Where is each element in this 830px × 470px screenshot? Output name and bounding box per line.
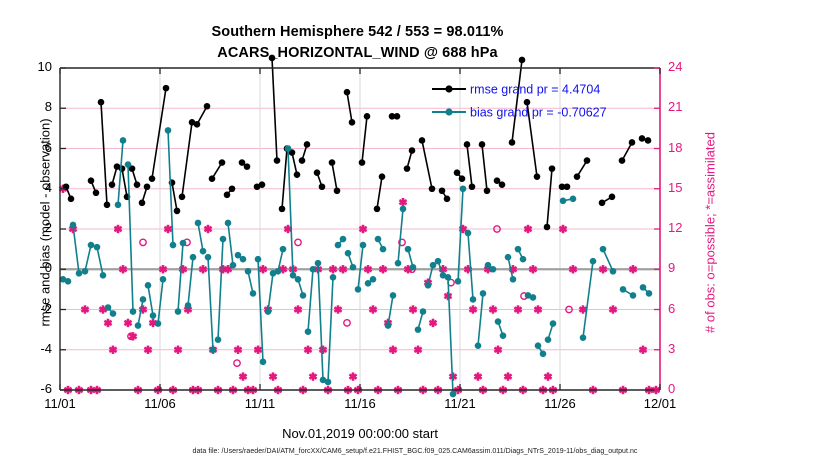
- bias-data-point: [94, 244, 101, 251]
- bias-data-point: [195, 220, 202, 227]
- bias-data-point: [145, 282, 152, 289]
- rmse-data-point: [104, 202, 111, 209]
- rmse-data-point: [509, 139, 516, 146]
- rmse-data-point: [464, 141, 471, 148]
- rmse-data-point: [645, 137, 652, 144]
- obs-assimilated-marker: [474, 372, 481, 380]
- rmse-line-segment: [122, 169, 127, 197]
- obs-possible-marker: [344, 320, 350, 326]
- rmse-data-point: [219, 159, 226, 166]
- rmse-line-segment: [172, 183, 177, 211]
- rmse-data-point: [314, 169, 321, 176]
- bias-data-point: [540, 350, 547, 357]
- rmse-data-point: [499, 181, 506, 188]
- bias-data-point: [240, 256, 247, 263]
- bias-line-segment: [85, 245, 91, 271]
- obs-possible-marker: [140, 239, 146, 245]
- bias-line-segment: [188, 257, 193, 305]
- bias-line-segment: [198, 223, 203, 251]
- bias-line-segment: [248, 271, 253, 293]
- rmse-line-segment: [512, 60, 522, 143]
- rmse-data-point: [134, 181, 141, 188]
- bias-data-point: [500, 332, 507, 339]
- bias-data-point: [250, 290, 257, 297]
- rmse-data-point: [344, 89, 351, 96]
- bias-data-point: [590, 258, 597, 265]
- bias-data-point: [380, 246, 387, 253]
- rmse-data-point: [179, 194, 186, 201]
- rmse-data-point: [244, 163, 251, 170]
- bias-data-point: [165, 127, 172, 134]
- y-tick-label-right: 18: [668, 140, 708, 155]
- obs-assimilated-marker: [629, 265, 636, 273]
- rmse-data-point: [599, 200, 606, 207]
- x-tick-label: 11/11: [225, 396, 295, 411]
- obs-assimilated-marker: [81, 305, 88, 313]
- bias-data-point: [130, 308, 137, 315]
- bias-data-point: [445, 274, 452, 281]
- bias-data-point: [315, 260, 322, 267]
- bias-data-point: [105, 304, 112, 311]
- bias-data-point: [570, 196, 577, 203]
- obs-assimilated-marker: [319, 346, 326, 354]
- bias-data-point: [515, 246, 522, 253]
- rmse-data-point: [144, 183, 151, 190]
- bias-data-point: [385, 322, 392, 329]
- y-tick-label-right: 15: [668, 180, 708, 195]
- bias-data-point: [345, 250, 352, 257]
- bias-data-point: [325, 379, 332, 386]
- obs-assimilated-marker: [104, 319, 111, 327]
- rmse-data-point: [374, 206, 381, 213]
- rmse-data-point: [269, 55, 276, 62]
- x-tick-label: 11/16: [325, 396, 395, 411]
- bias-data-point: [600, 246, 607, 253]
- y-tick-label-left: 6: [6, 140, 52, 155]
- bias-data-point: [155, 320, 162, 327]
- bias-data-point: [135, 322, 142, 329]
- rmse-data-point: [484, 187, 491, 194]
- bias-data-point: [110, 310, 117, 317]
- y-tick-label-left: 2: [6, 220, 52, 235]
- rmse-data-point: [519, 57, 526, 64]
- rmse-data-point: [319, 183, 326, 190]
- bias-data-point: [280, 246, 287, 253]
- bias-data-point: [205, 254, 212, 261]
- bias-data-point: [82, 268, 89, 275]
- bias-data-point: [230, 262, 237, 269]
- obs-assimilated-marker: [409, 305, 416, 313]
- bias-data-point: [460, 185, 467, 192]
- bias-line-segment: [288, 149, 293, 276]
- rmse-data-point: [194, 121, 201, 128]
- bias-data-point: [70, 222, 77, 229]
- rmse-data-point: [639, 135, 646, 142]
- rmse-data-point: [429, 185, 436, 192]
- obs-assimilated-marker: [109, 346, 116, 354]
- bias-data-point: [495, 318, 502, 325]
- bias-data-point: [545, 336, 552, 343]
- obs-assimilated-marker: [159, 265, 166, 273]
- obs-assimilated-marker: [559, 225, 566, 233]
- bias-data-point: [355, 286, 362, 293]
- obs-assimilated-marker: [364, 265, 371, 273]
- bias-data-point: [420, 308, 427, 315]
- bias-data-point: [370, 276, 377, 283]
- bias-data-point: [560, 198, 567, 205]
- obs-assimilated-marker: [304, 346, 311, 354]
- rmse-data-point: [574, 173, 581, 180]
- bias-line-segment: [268, 273, 273, 311]
- bias-data-point: [65, 278, 72, 285]
- rmse-data-point: [299, 157, 306, 164]
- bias-data-point: [470, 296, 477, 303]
- obs-assimilated-marker: [334, 305, 341, 313]
- bias-data-point: [305, 328, 312, 335]
- bias-data-point: [88, 242, 95, 249]
- bias-data-point: [630, 292, 637, 299]
- bias-data-point: [115, 202, 122, 209]
- rmse-line-segment: [467, 144, 472, 186]
- x-tick-label: 12/01: [625, 396, 695, 411]
- obs-assimilated-marker: [534, 305, 541, 313]
- bias-data-point: [510, 276, 517, 283]
- rmse-data-point: [229, 185, 236, 192]
- bias-data-point: [610, 268, 617, 275]
- y-tick-label-right: 6: [668, 301, 708, 316]
- bias-data-point: [285, 145, 292, 152]
- bias-data-point: [170, 242, 177, 249]
- obs-assimilated-marker: [124, 319, 131, 327]
- bias-data-point: [490, 266, 497, 273]
- obs-assimilated-marker: [514, 305, 521, 313]
- x-tick-label: 11/26: [525, 396, 595, 411]
- obs-assimilated-marker: [294, 305, 301, 313]
- rmse-line-segment: [347, 92, 352, 122]
- bias-data-point: [405, 246, 412, 253]
- bias-data-point: [215, 336, 222, 343]
- bias-data-point: [530, 294, 537, 301]
- obs-assimilated-marker: [234, 346, 241, 354]
- obs-assimilated-marker: [144, 346, 151, 354]
- bias-data-point: [465, 230, 472, 237]
- obs-assimilated-marker: [309, 372, 316, 380]
- y-tick-label-right: 21: [668, 99, 708, 114]
- y-tick-label-left: -6: [6, 381, 52, 396]
- x-tick-label: 11/21: [425, 396, 495, 411]
- obs-assimilated-marker: [239, 372, 246, 380]
- bias-data-point: [350, 264, 357, 271]
- bias-data-point: [375, 236, 382, 243]
- obs-assimilated-marker: [119, 265, 126, 273]
- rmse-data-point: [163, 85, 170, 92]
- bias-line-segment: [128, 165, 133, 312]
- bias-line-segment: [583, 261, 593, 337]
- rmse-data-point: [294, 171, 301, 178]
- bias-data-point: [620, 286, 627, 293]
- bias-data-point: [76, 270, 83, 277]
- obs-assimilated-marker: [259, 265, 266, 273]
- bias-data-point: [190, 254, 197, 261]
- bias-data-point: [175, 308, 182, 315]
- rmse-data-point: [93, 189, 100, 196]
- obs-assimilated-marker: [379, 265, 386, 273]
- bias-data-point: [335, 242, 342, 249]
- rmse-data-point: [329, 159, 336, 166]
- obs-assimilated-marker: [609, 305, 616, 313]
- obs-assimilated-marker: [359, 225, 366, 233]
- rmse-data-point: [359, 159, 366, 166]
- bias-data-point: [275, 268, 282, 275]
- rmse-line-segment: [332, 163, 337, 191]
- bias-data-point: [150, 312, 157, 319]
- bias-data-point: [340, 236, 347, 243]
- obs-assimilated-marker: [174, 346, 181, 354]
- y-tick-label-left: 8: [6, 99, 52, 114]
- rmse-data-point: [88, 177, 95, 184]
- rmse-data-point: [469, 183, 476, 190]
- obs-possible-marker: [234, 360, 240, 366]
- bias-data-point: [125, 161, 132, 168]
- bias-legend-marker: [445, 108, 452, 115]
- rmse-data-point: [259, 181, 266, 188]
- bias-data-point: [310, 266, 317, 273]
- rmse-data-point: [364, 113, 371, 120]
- y-tick-label-left: 10: [6, 59, 52, 74]
- bias-data-point: [220, 236, 227, 243]
- bias-data-point: [255, 256, 262, 263]
- y-tick-label-left: -4: [6, 341, 52, 356]
- y-tick-label-right: 0: [668, 381, 708, 396]
- bias-data-point: [140, 296, 147, 303]
- rmse-data-point: [209, 175, 216, 182]
- bias-line-segment: [218, 239, 223, 340]
- bias-data-point: [640, 284, 647, 291]
- rmse-data-point: [349, 119, 356, 126]
- rmse-data-point: [479, 141, 486, 148]
- obs-assimilated-marker: [494, 346, 501, 354]
- rmse-data-point: [224, 191, 231, 198]
- obs-assimilated-marker: [544, 372, 551, 380]
- bias-data-point: [455, 278, 462, 285]
- bias-data-point: [225, 220, 232, 227]
- bias-data-point: [300, 292, 307, 299]
- bias-data-point: [260, 359, 267, 366]
- rmse-line-segment: [377, 177, 382, 209]
- rmse-data-point: [334, 187, 341, 194]
- bias-data-point: [520, 256, 527, 263]
- bias-data-point: [505, 254, 512, 261]
- obs-assimilated-marker: [489, 305, 496, 313]
- rmse-data-point: [454, 169, 461, 176]
- obs-assimilated-marker: [329, 265, 336, 273]
- bias-data-point: [245, 268, 252, 275]
- rmse-data-point: [609, 194, 616, 201]
- obs-assimilated-marker: [339, 265, 346, 273]
- bias-line-segment: [308, 269, 313, 331]
- rmse-data-point: [274, 157, 281, 164]
- bias-data-point: [360, 242, 367, 249]
- bias-line-segment: [178, 243, 183, 311]
- rmse-data-point: [444, 196, 451, 203]
- x-tick-label: 11/06: [125, 396, 195, 411]
- bias-data-point: [200, 248, 207, 255]
- bias-line-segment: [318, 263, 323, 380]
- obs-assimilated-marker: [114, 225, 121, 233]
- rmse-line-segment: [482, 144, 487, 190]
- bias-data-point: [580, 334, 587, 341]
- rmse-line-segment: [282, 149, 287, 209]
- rmse-data-point: [564, 183, 571, 190]
- bias-line-segment: [73, 225, 79, 273]
- obs-assimilated-marker: [599, 265, 606, 273]
- x-tick-label: 11/01: [25, 396, 95, 411]
- bias-data-point: [185, 302, 192, 309]
- obs-assimilated-marker: [369, 305, 376, 313]
- bias-data-point: [535, 342, 542, 349]
- bias-data-point: [160, 276, 167, 283]
- rmse-line-segment: [152, 88, 166, 179]
- chart-legend: rmse grand pr = 4.4704bias grand pr = -0…: [432, 83, 607, 120]
- bias-line-segment: [148, 285, 153, 315]
- rmse-data-point: [419, 137, 426, 144]
- bias-data-point: [390, 292, 397, 299]
- rmse-data-point: [439, 187, 446, 194]
- obs-assimilated-marker: [399, 198, 406, 206]
- bias-data-point: [100, 272, 107, 279]
- bias-line-segment: [208, 257, 213, 350]
- rmse-data-point: [629, 139, 636, 146]
- bias-data-point: [480, 290, 487, 297]
- bias-data-point: [210, 346, 217, 353]
- rmse-data-point: [549, 165, 556, 172]
- y-tick-label-right: 9: [668, 260, 708, 275]
- rmse-data-point: [279, 206, 286, 213]
- bias-data-point: [180, 240, 187, 247]
- obs-assimilated-marker: [504, 372, 511, 380]
- obs-assimilated-marker: [254, 346, 261, 354]
- rmse-line-segment: [101, 102, 107, 205]
- rmse-line-segment: [422, 140, 432, 188]
- y-tick-label-left: 0: [6, 260, 52, 275]
- obs-assimilated-marker: [429, 319, 436, 327]
- bias-legend-label: bias grand pr = -0.70627: [470, 106, 607, 120]
- y-tick-label-right: 24: [668, 59, 708, 74]
- y-tick-label-left: 4: [6, 180, 52, 195]
- rmse-line-segment: [362, 116, 367, 162]
- obs-assimilated-marker: [269, 372, 276, 380]
- rmse-data-point: [174, 208, 181, 215]
- obs-assimilated-marker: [524, 225, 531, 233]
- bias-data-point: [475, 342, 482, 349]
- y-tick-label-right: 12: [668, 220, 708, 235]
- bias-line-segment: [97, 247, 103, 275]
- bias-line-segment: [328, 277, 333, 382]
- rmse-line-segment: [272, 58, 277, 161]
- bias-data-point: [400, 206, 407, 213]
- bias-data-point: [330, 274, 337, 281]
- bias-data-point: [415, 326, 422, 333]
- obs-assimilated-marker: [349, 372, 356, 380]
- bias-data-point: [425, 282, 432, 289]
- rmse-data-point: [379, 173, 386, 180]
- rmse-data-point: [534, 173, 541, 180]
- obs-assimilated-marker: [529, 265, 536, 273]
- bias-data-point: [265, 308, 272, 315]
- bias-data-point: [410, 264, 417, 271]
- obs-assimilated-marker: [389, 346, 396, 354]
- obs-assimilated-marker: [164, 225, 171, 233]
- rmse-data-point: [204, 103, 211, 110]
- rmse-data-point: [119, 165, 126, 172]
- rmse-data-point: [459, 175, 466, 182]
- rmse-data-point: [619, 157, 626, 164]
- bias-data-point: [295, 276, 302, 283]
- obs-possible-marker: [295, 239, 301, 245]
- rmse-data-point: [304, 141, 311, 148]
- bias-line-segment: [398, 209, 403, 263]
- bias-data-point: [646, 290, 653, 297]
- rmse-legend-marker: [445, 85, 452, 92]
- obs-assimilated-marker: [639, 346, 646, 354]
- rmse-data-point: [394, 113, 401, 120]
- rmse-data-point: [139, 200, 146, 207]
- obs-assimilated-marker: [414, 346, 421, 354]
- rmse-data-point: [98, 99, 105, 106]
- bias-data-point: [395, 260, 402, 267]
- bias-data-point: [120, 137, 127, 144]
- y-tick-label-right: 3: [668, 341, 708, 356]
- rmse-legend-label: rmse grand pr = 4.4704: [470, 83, 600, 97]
- rmse-line-segment: [547, 169, 552, 227]
- y-tick-label-left: -2: [6, 301, 52, 316]
- bias-data-point: [435, 258, 442, 265]
- obs-assimilated-marker: [199, 265, 206, 273]
- bias-line-segment: [478, 293, 483, 345]
- rmse-data-point: [109, 181, 116, 188]
- bias-data-point: [550, 320, 557, 327]
- obs-assimilated-marker: [569, 265, 576, 273]
- rmse-data-point: [584, 157, 591, 164]
- rmse-data-point: [544, 224, 551, 231]
- rmse-data-point: [404, 165, 411, 172]
- obs-assimilated-marker: [204, 225, 211, 233]
- obs-assimilated-marker: [469, 305, 476, 313]
- rmse-line-segment: [182, 122, 192, 196]
- rmse-data-point: [68, 196, 75, 203]
- rmse-line-segment: [292, 153, 297, 175]
- rmse-data-point: [149, 175, 156, 182]
- rmse-data-point: [409, 147, 416, 154]
